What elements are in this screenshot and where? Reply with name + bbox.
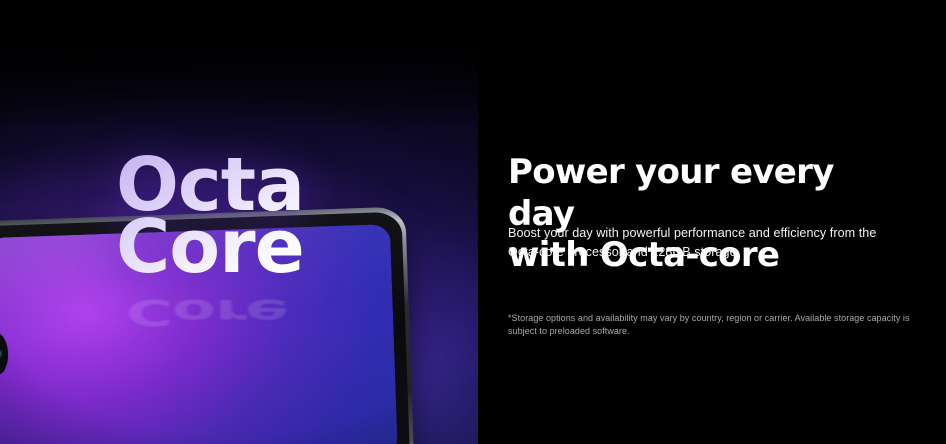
body-paragraph: Boost your day with powerful performance… <box>508 224 904 262</box>
legal-disclaimer: *Storage options and availability may va… <box>508 312 912 338</box>
headline-line-1: Power your every day <box>508 152 834 233</box>
hero-top-fade <box>0 38 478 130</box>
promo-banner: Octa Core Core Power your every day with… <box>0 0 946 444</box>
hero-product-image: Octa Core Core <box>0 38 478 444</box>
copy-column: Power your every day with Octa-core Boos… <box>508 0 924 444</box>
